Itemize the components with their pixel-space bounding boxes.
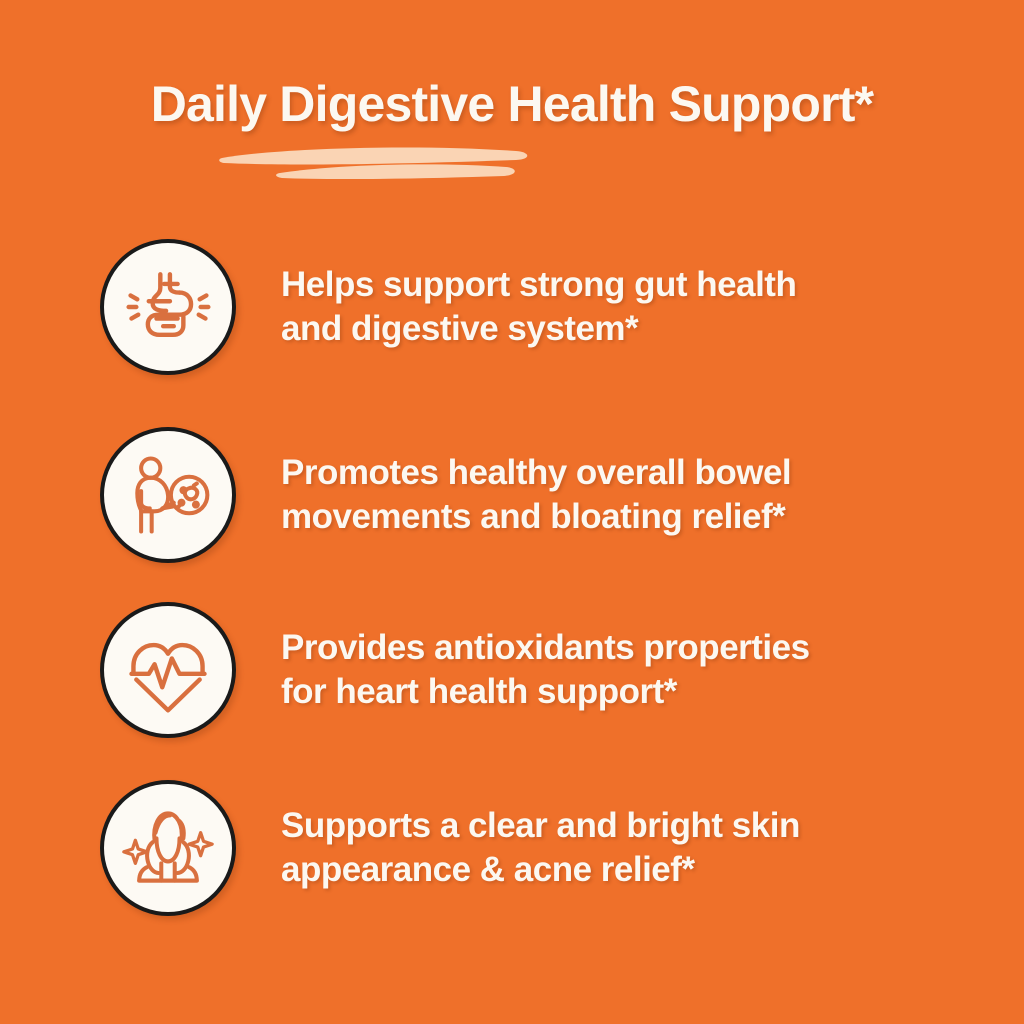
glowing-skin-woman-icon	[120, 800, 216, 896]
benefit-row: Promotes healthy overall bowel movements…	[100, 425, 980, 565]
benefit-row: Provides antioxidants properties for hea…	[100, 600, 980, 740]
intestine-gut-icon	[120, 259, 216, 355]
benefit-text-line: and digestive system*	[281, 307, 796, 351]
benefit-text: Promotes healthy overall bowel movements…	[281, 451, 791, 539]
benefit-text-line: Provides antioxidants properties	[281, 626, 810, 670]
bloated-person-bacteria-icon	[120, 447, 216, 543]
page-title: Daily Digestive Health Support*	[0, 78, 1024, 130]
benefit-text-line: Helps support strong gut health	[281, 263, 796, 307]
heart-heartbeat-icon	[120, 622, 216, 718]
title-block: Daily Digestive Health Support*	[0, 78, 1024, 130]
benefit-row: Helps support strong gut health and dige…	[100, 237, 980, 377]
benefit-text-line: movements and bloating relief*	[281, 495, 791, 539]
benefit-icon-badge	[100, 239, 236, 375]
brush-underline-icon	[218, 142, 548, 182]
benefit-text: Provides antioxidants properties for hea…	[281, 626, 810, 714]
benefit-icon-badge	[100, 427, 236, 563]
benefit-text: Supports a clear and bright skin appeara…	[281, 804, 800, 892]
benefit-text-line: Promotes healthy overall bowel	[281, 451, 791, 495]
benefit-icon-badge	[100, 602, 236, 738]
benefit-icon-badge	[100, 780, 236, 916]
benefit-text-line: for heart health support*	[281, 670, 810, 714]
benefit-row: Supports a clear and bright skin appeara…	[100, 778, 980, 918]
benefit-text-line: appearance & acne relief*	[281, 848, 800, 892]
benefit-text-line: Supports a clear and bright skin	[281, 804, 800, 848]
benefit-text: Helps support strong gut health and dige…	[281, 263, 796, 351]
promo-poster: Daily Digestive Health Support*	[0, 0, 1024, 1024]
